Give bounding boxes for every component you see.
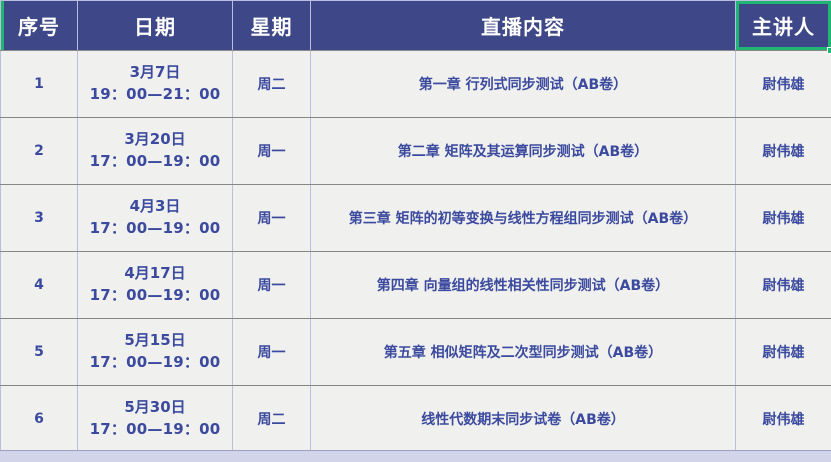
column-header-weekday[interactable]: 星期 [233,1,311,51]
cell-date-day: 5月15日 [80,330,230,352]
cell-speaker[interactable]: 尉伟雄 [736,319,831,386]
cell-speaker[interactable]: 尉伟雄 [736,252,831,319]
cell-date[interactable]: 4月17日 17：00—19：00 [78,252,233,319]
cell-index[interactable]: 3 [1,185,78,252]
cell-date[interactable]: 5月15日 17：00—19：00 [78,319,233,386]
next-row-partial [0,450,831,462]
cell-speaker[interactable]: 尉伟雄 [736,386,831,453]
cell-weekday[interactable]: 周一 [233,319,311,386]
cell-index[interactable]: 4 [1,252,78,319]
table-row: 3 4月3日 17：00—19：00 周一 第三章 矩阵的初等变换与线性方程组同… [1,185,831,252]
cell-index[interactable]: 1 [1,51,78,118]
cell-date-time: 17：00—19：00 [80,218,230,240]
cell-index[interactable]: 6 [1,386,78,453]
column-header-speaker-label: 主讲人 [752,15,815,39]
cell-weekday[interactable]: 周一 [233,185,311,252]
cell-speaker[interactable]: 尉伟雄 [736,185,831,252]
fill-handle-icon[interactable] [827,47,831,54]
table-row: 4 4月17日 17：00—19：00 周一 第四章 向量组的线性相关性同步测试… [1,252,831,319]
cell-content[interactable]: 线性代数期末同步试卷（AB卷） [311,386,736,453]
cell-date-time: 17：00—19：00 [80,151,230,173]
spreadsheet-canvas: 序号 日期 星期 直播内容 主讲人 1 3月7日 19：00—21：00 周二 … [0,0,831,462]
column-header-index[interactable]: 序号 [1,1,78,51]
column-header-date[interactable]: 日期 [78,1,233,51]
cell-content[interactable]: 第二章 矩阵及其运算同步测试（AB卷） [311,118,736,185]
cell-weekday[interactable]: 周二 [233,386,311,453]
column-header-content[interactable]: 直播内容 [311,1,736,51]
cell-date[interactable]: 4月3日 17：00—19：00 [78,185,233,252]
table-header-row: 序号 日期 星期 直播内容 主讲人 [1,1,831,51]
schedule-table: 序号 日期 星期 直播内容 主讲人 1 3月7日 19：00—21：00 周二 … [0,0,831,453]
cell-content[interactable]: 第四章 向量组的线性相关性同步测试（AB卷） [311,252,736,319]
table-row: 5 5月15日 17：00—19：00 周一 第五章 相似矩阵及二次型同步测试（… [1,319,831,386]
cell-content[interactable]: 第五章 相似矩阵及二次型同步测试（AB卷） [311,319,736,386]
table-row: 2 3月20日 17：00—19：00 周一 第二章 矩阵及其运算同步测试（AB… [1,118,831,185]
cell-weekday[interactable]: 周一 [233,252,311,319]
cell-date[interactable]: 3月20日 17：00—19：00 [78,118,233,185]
cell-speaker[interactable]: 尉伟雄 [736,118,831,185]
cell-date[interactable]: 3月7日 19：00—21：00 [78,51,233,118]
table-row: 1 3月7日 19：00—21：00 周二 第一章 行列式同步测试（AB卷） 尉… [1,51,831,118]
cell-date-day: 3月20日 [80,129,230,151]
table-body: 1 3月7日 19：00—21：00 周二 第一章 行列式同步测试（AB卷） 尉… [1,51,831,453]
cell-date-time: 19：00—21：00 [80,84,230,106]
cell-content[interactable]: 第三章 矩阵的初等变换与线性方程组同步测试（AB卷） [311,185,736,252]
cell-index[interactable]: 2 [1,118,78,185]
cell-date-day: 4月3日 [80,196,230,218]
cell-weekday[interactable]: 周二 [233,51,311,118]
cell-content[interactable]: 第一章 行列式同步测试（AB卷） [311,51,736,118]
cell-date-time: 17：00—19：00 [80,419,230,441]
cell-weekday[interactable]: 周一 [233,118,311,185]
cell-date-day: 5月30日 [80,397,230,419]
table-row: 6 5月30日 17：00—19：00 周二 线性代数期末同步试卷（AB卷） 尉… [1,386,831,453]
cell-index[interactable]: 5 [1,319,78,386]
cell-date-time: 17：00—19：00 [80,352,230,374]
column-header-speaker[interactable]: 主讲人 [736,1,831,51]
cell-date-day: 4月17日 [80,263,230,285]
cell-date-day: 3月7日 [80,62,230,84]
cell-date-time: 17：00—19：00 [80,285,230,307]
cell-date[interactable]: 5月30日 17：00—19：00 [78,386,233,453]
cell-speaker[interactable]: 尉伟雄 [736,51,831,118]
